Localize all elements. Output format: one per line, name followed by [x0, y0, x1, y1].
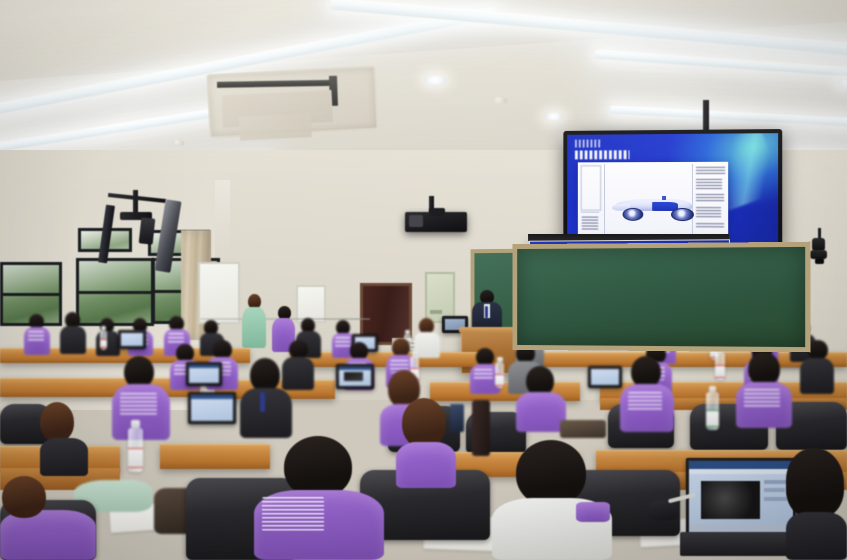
- attendee: [240, 358, 292, 438]
- body: [60, 326, 86, 354]
- attendee: [736, 352, 792, 428]
- laptop-titlebar: [689, 461, 793, 469]
- laptop: [188, 392, 236, 424]
- head: [748, 352, 780, 386]
- lecture-hall-photo: [0, 0, 847, 560]
- attendee-foreground: [396, 398, 456, 488]
- water-bottle: [706, 392, 719, 430]
- shirt-print-text: [120, 393, 157, 415]
- laptop-content-image: [701, 481, 759, 518]
- water-bottle: [100, 330, 107, 350]
- window-main-left: [76, 258, 154, 326]
- head: [250, 358, 280, 392]
- attendee: [60, 312, 86, 354]
- slide-title-text: [575, 150, 629, 159]
- body: [736, 382, 792, 428]
- laptop: [118, 330, 146, 349]
- head: [786, 448, 844, 518]
- wall-camera-lens-icon: [815, 258, 824, 264]
- wall-display: [563, 129, 782, 247]
- laptop-keyboard: [680, 532, 800, 556]
- laptop: [336, 364, 374, 389]
- laptop-foreground: [686, 458, 796, 536]
- laptop-screen: [689, 461, 793, 533]
- body: [40, 438, 88, 476]
- downlight: [838, 78, 847, 86]
- slide-logo-icon: [575, 140, 602, 148]
- body: [240, 388, 292, 438]
- body: [0, 510, 96, 560]
- water-bottle: [128, 428, 143, 472]
- standing-attendee-teal: [241, 294, 267, 348]
- ceiling-projector: [405, 212, 467, 232]
- attendee-foreground: [492, 440, 612, 560]
- display-slide: [567, 133, 778, 243]
- smoke-detector-icon: [492, 97, 507, 104]
- phone-device: [450, 404, 464, 432]
- laptop: [588, 366, 622, 388]
- attendee-foreground: [786, 448, 847, 560]
- thermos-bottle: [472, 400, 490, 456]
- attendee: [516, 366, 566, 432]
- body: [800, 358, 834, 394]
- lanyard: [260, 392, 265, 412]
- body: [254, 490, 384, 560]
- downlight: [424, 76, 446, 84]
- head: [2, 476, 46, 518]
- body: [516, 392, 566, 432]
- body: [242, 307, 266, 348]
- laptop: [186, 362, 222, 386]
- shirt-print-text: [744, 389, 780, 407]
- slide-content-sheet: [577, 162, 728, 238]
- ceiling-speaker: [139, 217, 156, 244]
- head: [284, 436, 352, 498]
- smoke-detector-icon: [172, 140, 184, 146]
- body: [24, 327, 50, 355]
- downlight: [545, 113, 562, 120]
- attendee-foreground: [254, 436, 384, 560]
- chalkboard: [512, 242, 810, 353]
- attendee-foreground: [0, 476, 96, 560]
- ac-ceiling-cassette: [206, 66, 378, 139]
- whiteboard: [198, 262, 240, 324]
- collar: [576, 502, 610, 522]
- attendee: [24, 314, 50, 354]
- body: [786, 512, 847, 560]
- head: [516, 440, 586, 506]
- water-bottle: [495, 362, 504, 388]
- head: [808, 340, 828, 360]
- presenter-lanyard: [485, 306, 488, 318]
- projector-pole: [703, 100, 709, 132]
- mouse-device: [648, 500, 678, 520]
- head: [402, 398, 446, 448]
- body: [396, 442, 456, 488]
- desk-items: [560, 420, 606, 438]
- concept-car-illustration: [610, 192, 698, 219]
- shirt-print-text: [262, 497, 324, 531]
- attendee: [620, 356, 674, 432]
- water-bottle: [715, 352, 725, 380]
- shirt-print-text: [628, 392, 663, 411]
- head: [40, 402, 74, 442]
- attendee-foreground: [40, 402, 88, 476]
- body: [620, 384, 674, 432]
